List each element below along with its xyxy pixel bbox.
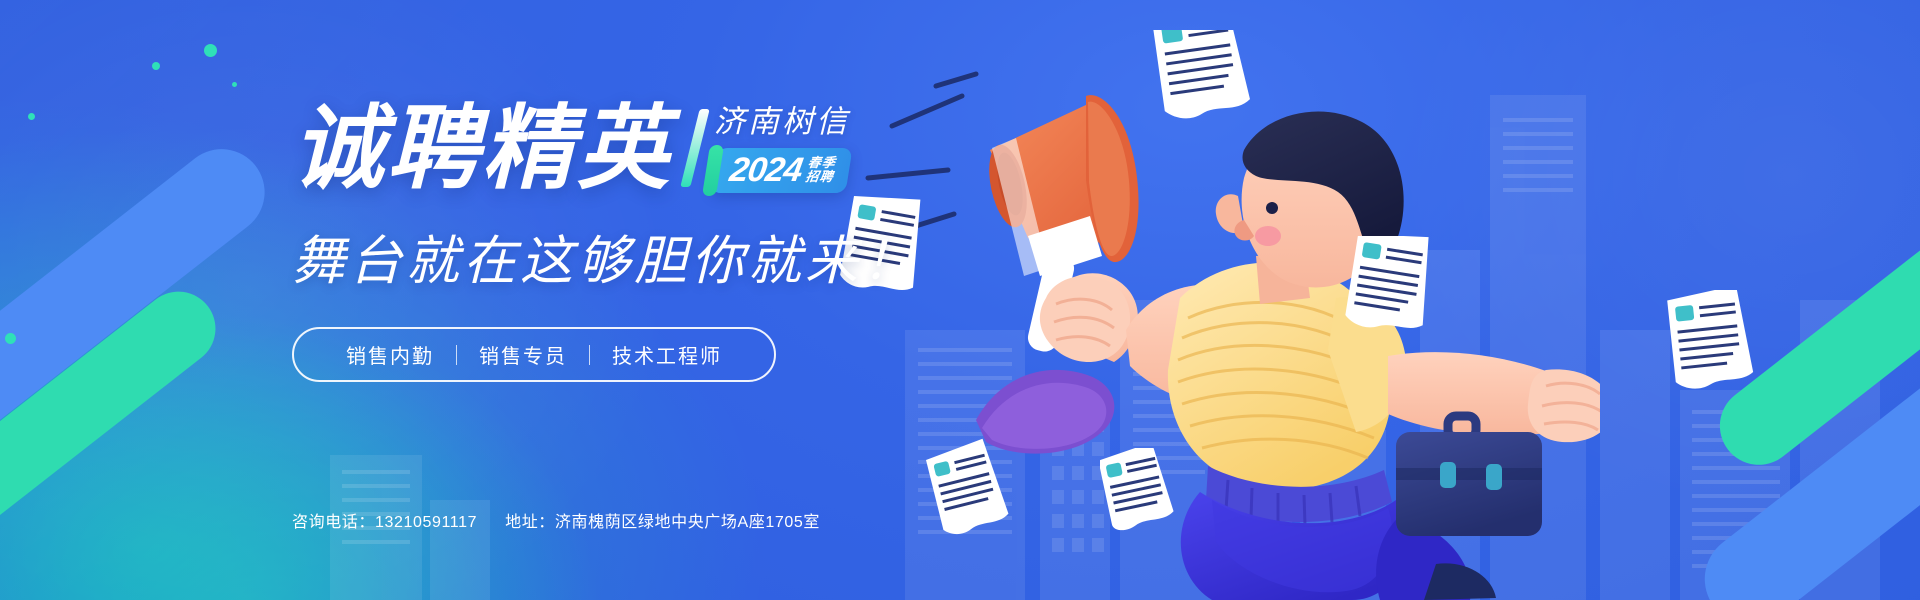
- banner-text-block: 诚聘精英 济南树信 2024 春季 招聘 舞台就在这够胆你就来！ 销售内勤 销售…: [292, 96, 1012, 382]
- contact-info: 咨询电话：13210591117 地址：济南槐荫区绿地中央广场A座1705室: [292, 508, 820, 532]
- resume-document-icon: [924, 437, 1010, 538]
- shoe: [1424, 563, 1496, 600]
- year-badge: 2024 春季 招聘: [710, 148, 852, 193]
- season-line-1: 春季: [807, 156, 837, 170]
- hand-grip: [1040, 276, 1130, 362]
- job-positions-pill: 销售内勤 销售专员 技术工程师: [292, 327, 776, 382]
- contact-address: 地址：济南槐荫区绿地中央广场A座1705室: [505, 508, 820, 532]
- briefcase-icon: [1396, 416, 1542, 536]
- cheek-blush: [1255, 226, 1281, 246]
- resume-document-icon: [1151, 30, 1252, 121]
- job-position-3[interactable]: 技术工程师: [590, 340, 744, 369]
- decor-dot-3: [232, 82, 237, 87]
- brand-name: 济南树信: [714, 96, 850, 141]
- year-number: 2024: [727, 153, 804, 187]
- decor-dot-5: [5, 333, 16, 344]
- recruitment-banner: 诚聘精英 济南树信 2024 春季 招聘 舞台就在这够胆你就来！ 销售内勤 销售…: [0, 0, 1920, 600]
- decor-dot-2: [152, 62, 160, 70]
- season-label: 春季 招聘: [805, 156, 837, 184]
- page-title: 诚聘精英: [292, 103, 672, 197]
- job-position-1[interactable]: 销售内勤: [324, 340, 456, 369]
- headline-row: 诚聘精英 济南树信 2024 春季 招聘: [292, 96, 1012, 197]
- decor-dot-4: [28, 113, 35, 120]
- subheadline: 舞台就在这够胆你就来！: [292, 219, 1012, 295]
- decor-dot-1: [204, 44, 217, 57]
- resume-document-icon: [1100, 448, 1178, 538]
- job-position-2[interactable]: 销售专员: [457, 340, 589, 369]
- resume-document-icon: [1664, 290, 1762, 398]
- eye: [1266, 202, 1278, 214]
- season-line-2: 招聘: [805, 170, 835, 184]
- brand-stack: 济南树信 2024 春季 招聘: [714, 96, 850, 193]
- resume-document-icon: [1344, 236, 1440, 342]
- contact-phone: 咨询电话：13210591117: [292, 508, 477, 532]
